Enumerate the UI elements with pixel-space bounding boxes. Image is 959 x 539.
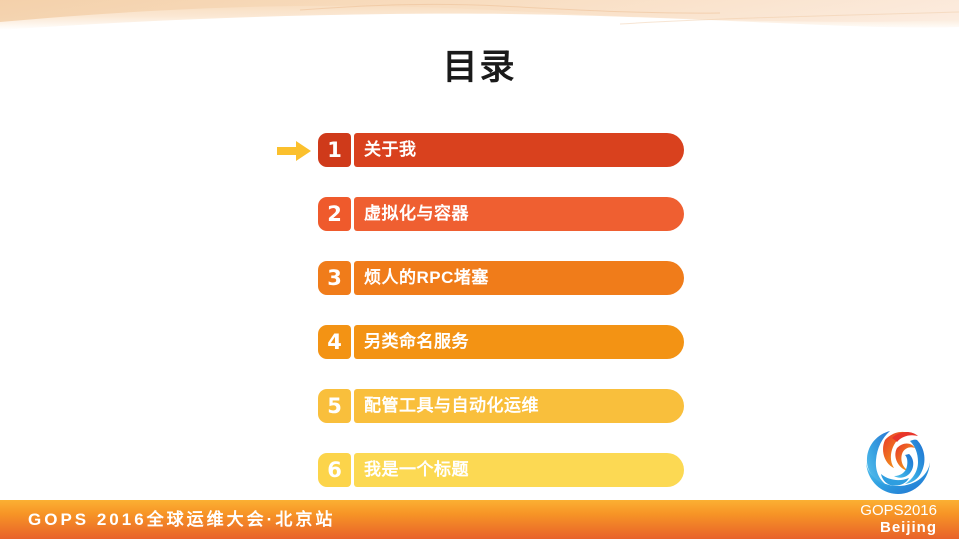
conference-name: GOPS 2016全球运维大会·北京站 xyxy=(28,500,335,539)
footer-bar: GOPS 2016全球运维大会·北京站 GOPS2016 Beijing xyxy=(0,500,959,539)
toc-bar[interactable]: 关于我 xyxy=(354,133,684,167)
toc-number-badge: 1 xyxy=(318,133,351,167)
toc-number-badge: 4 xyxy=(318,325,351,359)
toc-row[interactable]: 2 虚拟化与容器 xyxy=(0,197,959,231)
toc-row[interactable]: 5 配管工具与自动化运维 xyxy=(0,389,959,423)
gops-swirl-logo xyxy=(857,424,939,500)
footer-brand: GOPS2016 Beijing xyxy=(817,502,937,536)
toc-bar[interactable]: 配管工具与自动化运维 xyxy=(354,389,684,423)
slide-canvas: 目录 1 关于我 2 虚拟化与容器 3 烦人的RPC堵塞 xyxy=(0,0,959,539)
right-arrow-icon xyxy=(277,141,311,161)
toc-bar[interactable]: 我是一个标题 xyxy=(354,453,684,487)
toc-item-label: 关于我 xyxy=(364,133,417,167)
toc-item-label: 另类命名服务 xyxy=(364,325,469,359)
toc-bar[interactable]: 另类命名服务 xyxy=(354,325,684,359)
toc-number-badge: 5 xyxy=(318,389,351,423)
page-title: 目录 xyxy=(0,47,959,89)
toc-item-label: 我是一个标题 xyxy=(364,453,469,487)
toc-list: 1 关于我 2 虚拟化与容器 3 烦人的RPC堵塞 4 另类命名服务 xyxy=(0,133,959,487)
footer-brand-line1: GOPS2016 xyxy=(817,502,937,519)
toc-item-label: 烦人的RPC堵塞 xyxy=(364,261,489,295)
footer-brand-line2: Beijing xyxy=(817,519,937,536)
toc-bar[interactable]: 虚拟化与容器 xyxy=(354,197,684,231)
toc-number-badge: 2 xyxy=(318,197,351,231)
toc-row[interactable]: 4 另类命名服务 xyxy=(0,325,959,359)
toc-number-badge: 3 xyxy=(318,261,351,295)
toc-bar[interactable]: 烦人的RPC堵塞 xyxy=(354,261,684,295)
toc-item-label: 虚拟化与容器 xyxy=(364,197,469,231)
toc-row[interactable]: 3 烦人的RPC堵塞 xyxy=(0,261,959,295)
toc-item-label: 配管工具与自动化运维 xyxy=(364,389,539,423)
toc-row[interactable]: 6 我是一个标题 xyxy=(0,453,959,487)
toc-number-badge: 6 xyxy=(318,453,351,487)
top-decoration xyxy=(0,0,959,46)
toc-row[interactable]: 1 关于我 xyxy=(0,133,959,167)
